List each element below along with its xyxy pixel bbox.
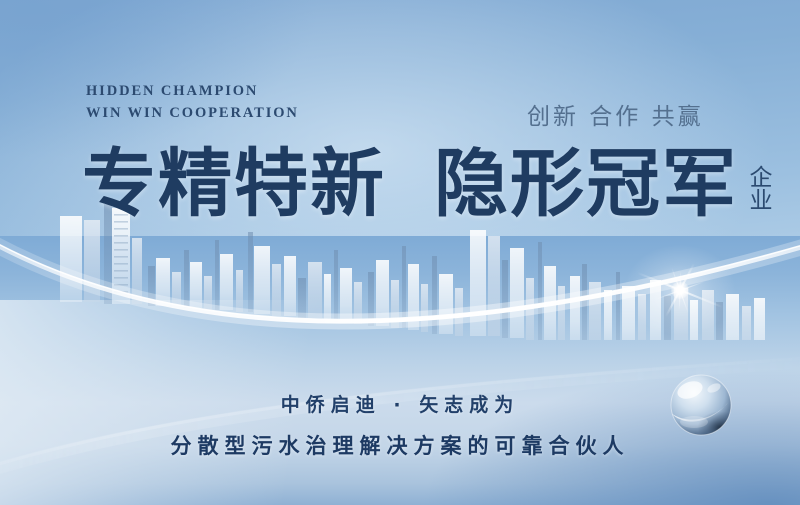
main-headline: 专精特新 隐形冠军 企业	[82, 143, 771, 225]
bottom-tagline-line1: 中侨启迪 · 矢志成为	[0, 390, 800, 417]
english-tagline: HIDDEN CHAMPION WIN WIN COOPERATION	[86, 80, 299, 124]
top-slogan: 创新 合作 共赢	[527, 97, 704, 131]
promotional-banner: HIDDEN CHAMPION WIN WIN COOPERATION 创新 合…	[0, 0, 800, 505]
headline-suffix-vertical: 企业	[744, 165, 771, 211]
english-tagline-line2: WIN WIN COOPERATION	[86, 102, 299, 124]
bottom-tagline-line2: 分散型污水治理解决方案的可靠合伙人	[0, 430, 800, 460]
headline-word-2: 隐形冠军	[434, 143, 738, 225]
english-tagline-line1: HIDDEN CHAMPION	[86, 80, 299, 102]
headline-word-1: 专精特新	[82, 143, 386, 225]
